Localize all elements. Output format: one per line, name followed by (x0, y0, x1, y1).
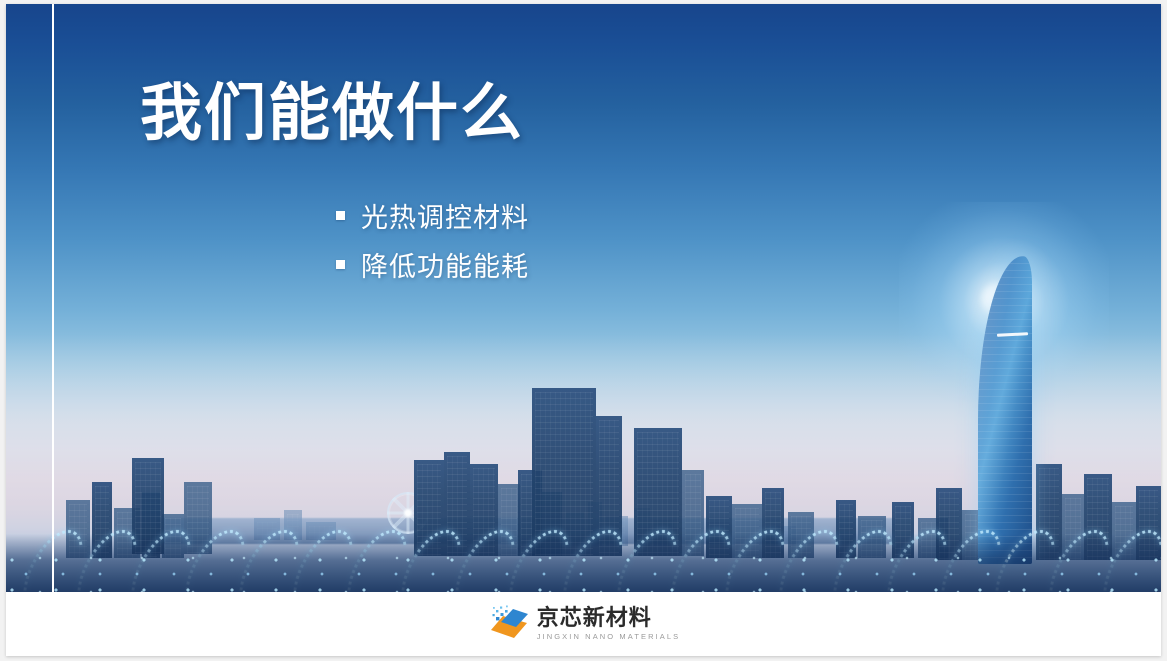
square-bullet-icon (336, 260, 345, 269)
company-logo: 京芯新材料 JINGXIN NANO MATERIALS (487, 604, 681, 644)
city-skyline (6, 362, 1161, 592)
logo-text: 京芯新材料 JINGXIN NANO MATERIALS (537, 607, 681, 641)
square-bullet-icon (336, 211, 345, 220)
bullet-label: 光热调控材料 (361, 196, 529, 235)
bullet-label: 降低功能能耗 (361, 245, 529, 284)
presentation-slide: 我们能做什么 光热调控材料 降低功能能耗 (6, 4, 1161, 656)
bullet-list: 光热调控材料 降低功能能耗 (336, 196, 529, 294)
light-dots (6, 552, 1161, 592)
jingxin-pixel-logo-icon (487, 604, 529, 644)
vertical-divider (52, 4, 54, 592)
slide-footer: 京芯新材料 JINGXIN NANO MATERIALS (6, 592, 1161, 656)
logo-cn-name: 京芯新材料 (537, 607, 681, 629)
page-title: 我们能做什么 (140, 80, 524, 148)
list-item: 光热调控材料 (336, 196, 529, 235)
slide-background-image: 我们能做什么 光热调控材料 降低功能能耗 (6, 4, 1161, 592)
list-item: 降低功能能耗 (336, 245, 529, 284)
logo-en-name: JINGXIN NANO MATERIALS (537, 633, 681, 641)
